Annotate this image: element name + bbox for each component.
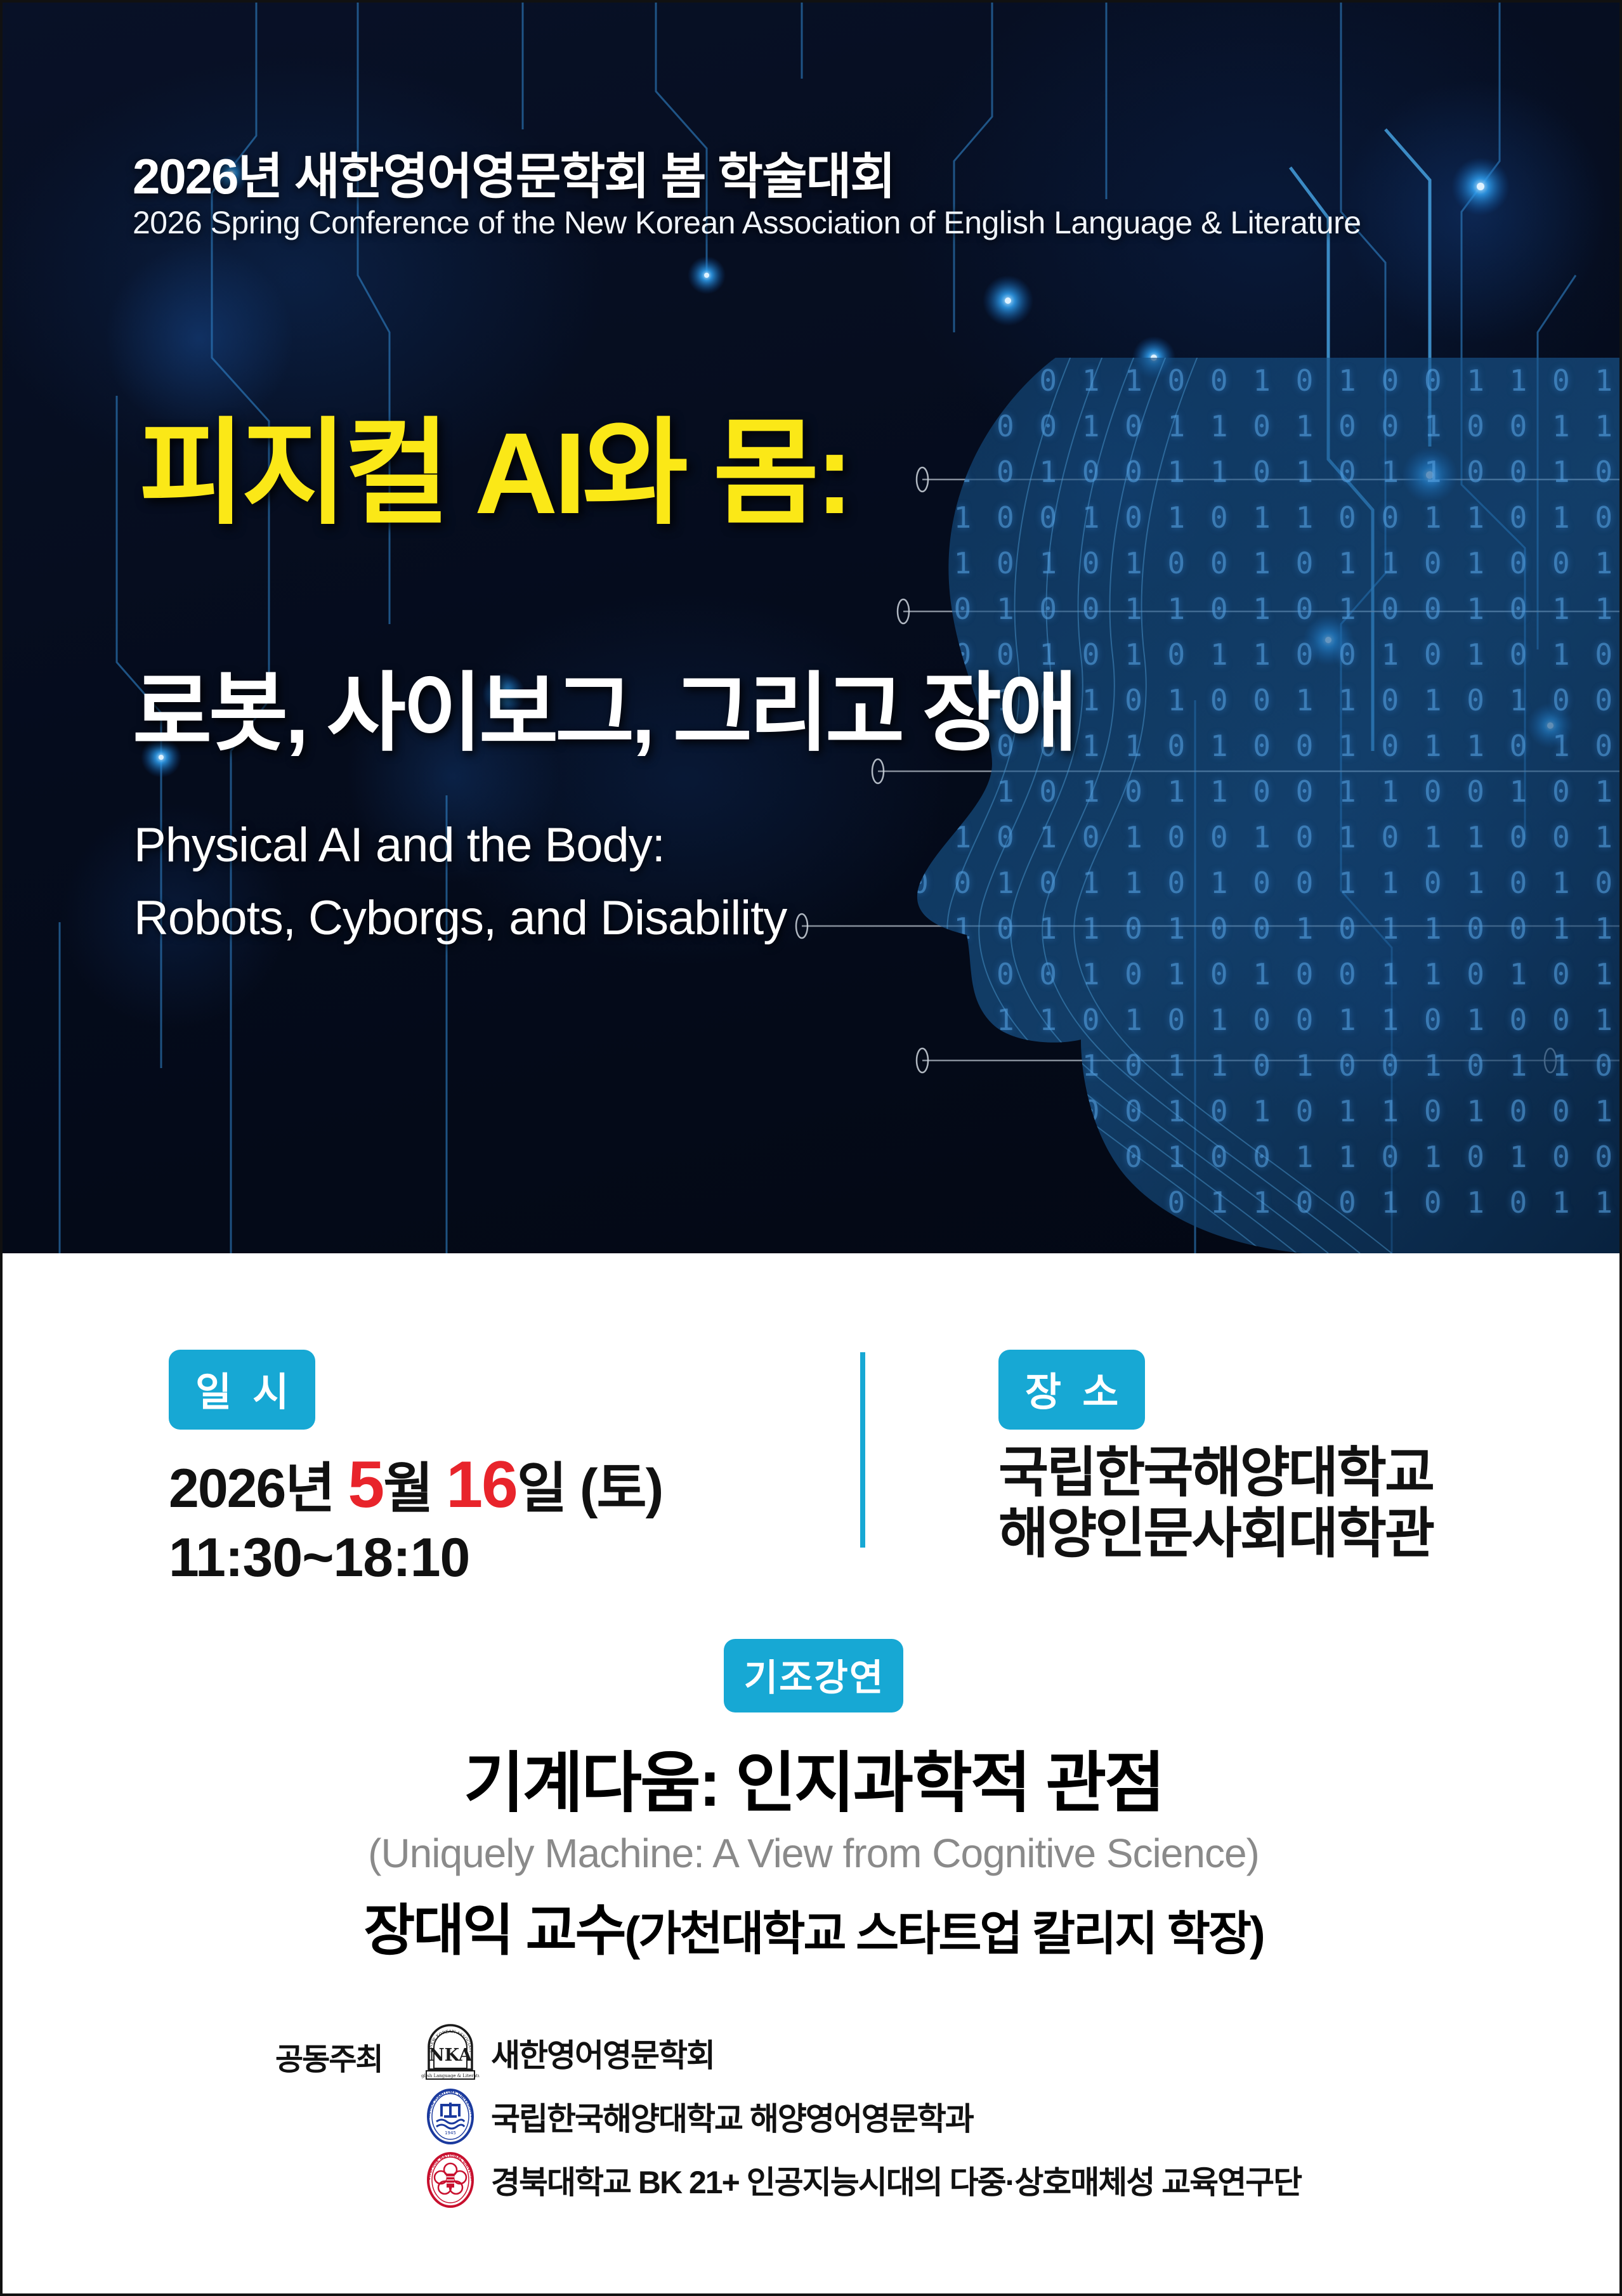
svg-text:1945: 1945	[445, 2130, 456, 2136]
datetime-block: 일 시 2026년 5월 16일 (토) 11:30~18:10	[169, 1350, 662, 1589]
event-date: 2026년 5월 16일 (토)	[169, 1444, 662, 1523]
keynote-badge: 기조강연	[724, 1639, 903, 1712]
nka-logo: NKA English Language & Literature THE NE…	[421, 2024, 480, 2082]
venue-name: 국립한국해양대학교	[998, 1442, 1433, 1503]
poster-main-title: 피지컬 AI와 몸:	[139, 415, 850, 533]
keynote-title-korean: 기계다움: 인지과학적 관점	[3, 1729, 1622, 1825]
event-time-range: 11:30~18:10	[169, 1527, 662, 1589]
venue-badge: 장 소	[998, 1350, 1145, 1430]
poster-sub-title: 로봇, 사이보그, 그리고 장애	[133, 643, 1075, 768]
date-month-suffix: 월	[383, 1458, 446, 1519]
sponsor-row: NKA English Language & Literature THE NE…	[275, 2023, 1301, 2084]
poster-title-english-line2: Robots, Cyborgs, and Disability	[134, 890, 787, 946]
conference-title-korean: 2026년 새한영어영문학회 봄 학술대회	[133, 137, 894, 208]
knu-logo: KYUNGPOOK NATIONAL UNIVERSITY	[421, 2151, 480, 2209]
date-year: 2026년	[169, 1458, 348, 1519]
keynote-speaker: 장대익 교수(가천대학교 스타트업 칼리지 학장)	[3, 1886, 1622, 1966]
datetime-badge: 일 시	[169, 1350, 315, 1430]
sponsor-row: 1945 KOREA MARITIME UNIVERSITY 국립한국해양대학교…	[275, 2086, 1301, 2147]
sponsor-name: 국립한국해양대학교 해양영어영문학과	[491, 2094, 973, 2139]
speaker-name: 장대익 교수	[363, 1899, 624, 1962]
svg-text:NKA: NKA	[429, 2045, 473, 2065]
hero-banner: 1 0 0 1 0 1 0 1 1 0 0 1 0 1 0 0 1 1 0 1 …	[3, 3, 1622, 1253]
poster-title-english-line1: Physical AI and the Body:	[134, 818, 665, 873]
speaker-affiliation: (가천대학교 스타트업 칼리지 학장)	[625, 1907, 1264, 1960]
venue-building: 해양인문사회대학관	[998, 1503, 1433, 1564]
binary-head-graphic: 1 0 0 1 0 1 0 1 1 0 0 1 0 1 0 0 1 1 0 1 …	[783, 358, 1622, 1253]
conference-poster: 1 0 0 1 0 1 0 1 1 0 0 1 0 1 0 0 1 1 0 1 …	[0, 0, 1622, 2296]
sponsor-name: 경북대학교 BK 21+ 인공지능시대의 다중·상호매체성 교육연구단	[491, 2157, 1301, 2203]
sponsors-label: 공동주최	[275, 2034, 383, 2078]
date-day-suffix: 일 (토)	[517, 1458, 662, 1519]
date-day-number: 16	[446, 1448, 517, 1522]
sponsor-name: 새한영어영문학회	[491, 2030, 714, 2076]
conference-title-english: 2026 Spring Conference of the New Korean…	[133, 204, 1361, 241]
section-divider	[860, 1352, 865, 1548]
keynote-block: 기조강연 기계다움: 인지과학적 관점 (Uniquely Machine: A…	[3, 1639, 1622, 1966]
sponsor-row: KYUNGPOOK NATIONAL UNIVERSITY 경북대학교 BK 2…	[275, 2149, 1301, 2210]
date-month-number: 5	[348, 1448, 383, 1522]
kmou-logo: 1945 KOREA MARITIME UNIVERSITY	[421, 2087, 480, 2146]
svg-text:English Language & Literature: English Language & Literature	[421, 2073, 480, 2078]
venue-block: 장 소 국립한국해양대학교 해양인문사회대학관	[998, 1350, 1433, 1565]
keynote-title-english: (Uniquely Machine: A View from Cognitive…	[3, 1830, 1622, 1877]
sponsors-block: 공동주최 NKA English Language & Literature T…	[275, 2023, 1301, 2213]
